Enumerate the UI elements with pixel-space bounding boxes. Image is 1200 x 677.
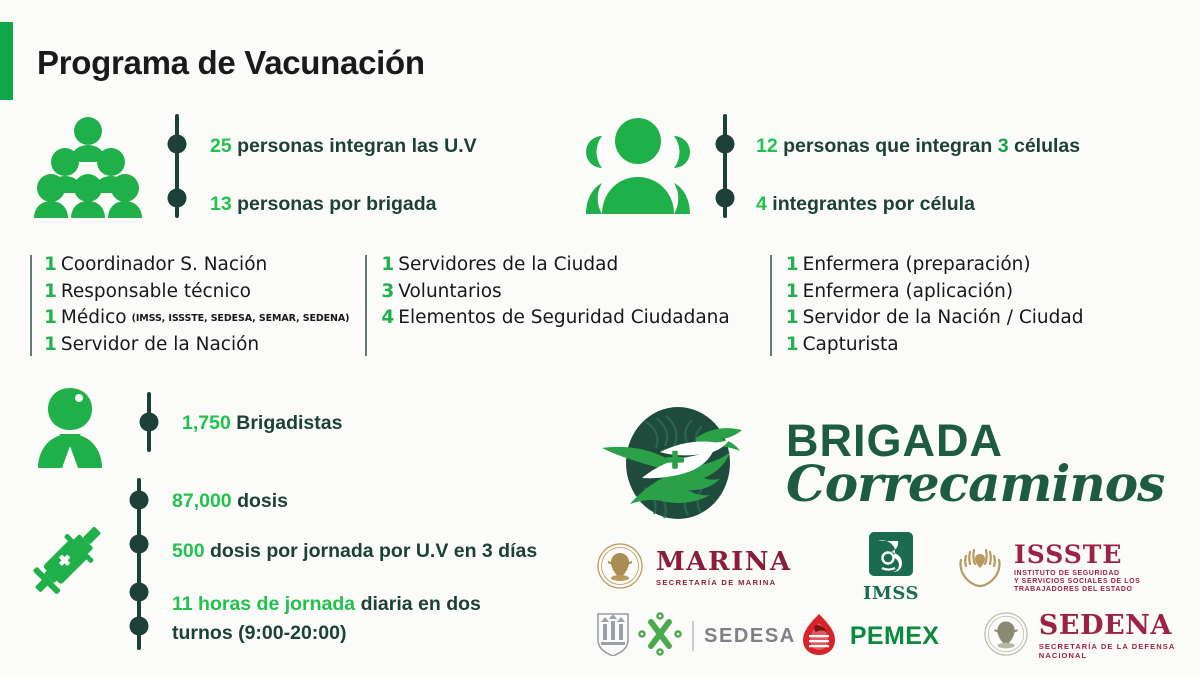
people-trio-icon [584,114,692,219]
role-label: Elementos de Seguridad Ciudadana [398,307,729,328]
role-column-2: 1Servidores de la Ciudad 3Voluntarios 4E… [365,252,745,359]
issste-subtitle: INSTITUTO DE SEGURIDAD Y SERVICIOS SOCIA… [1014,570,1140,595]
role-label: Enfermera (preparación) [803,254,1031,275]
sedena-text: SEDENA SECRETARÍA DE LA DEFENSA NACIONAL [1039,612,1186,661]
roadrunner-bird-icon [600,404,780,522]
role-item: 1Enfermera (preparación) [786,252,1084,279]
role-count: 1 [786,334,799,355]
stat-block-brigadistas: 1,750 Brigadistas [34,386,342,468]
role-label: Voluntarios [398,281,501,302]
sedesa-name: SEDESA [704,625,796,648]
role-label: Servidor de la Nación / Ciudad [803,307,1084,328]
stat-number: 11 horas de jornada [172,593,355,615]
role-label: Enfermera (aplicación) [803,281,1013,302]
stat-text: personas integran las U.V [237,135,477,157]
timeline-rail-celulas [714,114,736,218]
stat-number: 500 [172,540,205,562]
stat-block-unidades: 25 personas integran las U.V 13 personas… [34,114,477,218]
stat-text-secondary: células [1014,135,1080,157]
role-count: 1 [786,281,799,302]
health-worker-icon [34,386,106,473]
role-count: 1 [381,254,394,275]
stat-number: 12 [756,135,778,157]
logo-row-1: MARINA SECRETARÍA DE MARINA IMSS [596,534,1186,602]
role-item: 1Servidor de la Nación / Ciudad [786,305,1084,332]
role-item: 1Servidor de la Nación [44,332,349,359]
marina-text: MARINA SECRETARÍA DE MARINA [656,549,792,588]
role-count: 1 [44,281,57,302]
pemex-name: PEMEX [850,622,940,651]
stat-line: 1,750 Brigadistas [182,411,342,436]
role-label: Capturista [803,334,899,355]
pemex-eagle-icon [796,611,842,662]
imss-emblem-icon [869,532,913,581]
cdmx-shield-icon [596,612,630,661]
stat-lines-dosis: 87,000 dosis 500 dosis por jornada por U… [172,478,537,646]
stat-line: 500 dosis por jornada por U.V en 3 días [172,539,537,564]
role-column-3: 1Enfermera (preparación) 1Enfermera (apl… [770,252,1100,359]
role-count: 1 [786,307,799,328]
people-group-pyramid-icon [34,114,142,223]
logo-imss: IMSS [826,532,956,604]
role-count: 1 [44,307,57,328]
stat-number-secondary: 3 [998,135,1009,157]
issste-hands-icon [956,544,1004,593]
role-item: 4Elementos de Seguridad Ciudadana [381,305,729,332]
role-item: 1Coordinador S. Nación [44,252,349,279]
role-item: 1Capturista [786,332,1084,359]
stat-text: personas por brigada [237,193,436,215]
role-item: 3Voluntarios [381,279,729,306]
role-count: 1 [44,254,57,275]
marina-name: MARINA [656,549,792,575]
brigada-logotype: BRIGADA Correcaminos [786,418,1164,509]
stat-block-celulas: 12 personas que integran 3 células 4 int… [584,114,1080,218]
logo-sedena: SEDENA SECRETARÍA DE LA DEFENSA NACIONAL [983,611,1186,662]
stat-text: diaria en dos [361,593,481,615]
stat-text: integrantes por célula [772,193,975,215]
role-count: 1 [786,254,799,275]
sedena-name: SEDENA [1039,612,1186,639]
stat-line: 12 personas que integran 3 células [756,134,1080,159]
role-item: 1Médico(IMSS, ISSSTE, SEDESA, SEMAR, SED… [44,305,349,332]
logo-marina: MARINA SECRETARÍA DE MARINA [596,542,826,595]
stat-line: 13 personas por brigada [210,192,477,217]
role-count: 4 [381,307,394,328]
role-label: Médico [61,307,127,328]
brigada-correcaminos-logo: BRIGADA Correcaminos [600,404,1164,522]
stat-line: 4 integrantes por célula [756,192,1080,217]
stat-lines-unidades: 25 personas integran las U.V 13 personas… [210,114,477,218]
stat-text: Brigadistas [236,412,342,434]
sedesa-x-icon [638,612,682,661]
imss-name: IMSS [863,583,919,604]
stat-text: dosis [237,490,288,512]
institution-logos: MARINA SECRETARÍA DE MARINA IMSS [596,534,1186,670]
stat-number: 1,750 [182,412,231,434]
role-label: Servidor de la Nación [61,334,259,355]
slide-canvas: Programa de Vacunación [0,0,1200,677]
stat-block-dosis: 87,000 dosis 500 dosis por jornada por U… [22,478,537,650]
timeline-rail-dosis [128,478,150,650]
logo-row-2: SEDESA PEMEX [596,602,1186,670]
marina-subtitle: SECRETARÍA DE MARINA [656,579,792,588]
role-label: Coordinador S. Nación [61,254,267,275]
sedena-subtitle: SECRETARÍA DE LA DEFENSA NACIONAL [1039,643,1186,661]
role-label: Responsable técnico [61,281,251,302]
role-sublabel: (IMSS, ISSSTE, SEDESA, SEMAR, SEDENA) [132,313,350,324]
role-item: 1Servidores de la Ciudad [381,252,729,279]
timeline-rail-brigadistas [138,386,160,468]
title-accent-bar [0,22,13,100]
stat-text: personas que integran [783,135,992,157]
role-label: Servidores de la Ciudad [398,254,618,275]
role-count: 1 [44,334,57,355]
issste-name: ISSSTE [1014,542,1140,567]
role-column-1: 1Coordinador S. Nación 1Responsable técn… [30,252,365,359]
sedesa-divider [692,621,694,651]
stat-number: 25 [210,135,232,157]
stat-line: 11 horas de jornada diaria en dos [172,592,537,617]
stat-lines-brigadistas: 1,750 Brigadistas [182,386,342,436]
stat-line: 87,000 dosis [172,489,537,514]
role-columns: 1Coordinador S. Nación 1Responsable técn… [30,252,1100,359]
role-item: 1Enfermera (aplicación) [786,279,1084,306]
logo-sedesa: SEDESA [596,612,796,661]
syringe-icon [22,512,114,609]
mexico-eagle-seal-icon [983,611,1029,662]
stat-line: turnos (9:00-20:00) [172,621,537,646]
stat-number: 4 [756,193,767,215]
timeline-rail-unidades [166,114,188,218]
logo-issste: ISSSTE INSTITUTO DE SEGURIDAD Y SERVICIO… [956,542,1186,595]
stat-lines-celulas: 12 personas que integran 3 células 4 int… [756,114,1080,218]
role-item: 1Responsable técnico [44,279,349,306]
role-count: 3 [381,281,394,302]
stat-line: 25 personas integran las U.V [210,134,477,159]
stat-number: 87,000 [172,490,232,512]
issste-text: ISSSTE INSTITUTO DE SEGURIDAD Y SERVICIO… [1014,542,1140,595]
mexico-eagle-seal-icon [596,542,644,595]
stat-text: dosis por jornada por U.V en 3 días [210,540,537,562]
logo-pemex: PEMEX [796,611,983,662]
page-title: Programa de Vacunación [37,44,425,82]
correcaminos-word: Correcaminos [786,459,1164,509]
stat-number: 13 [210,193,232,215]
